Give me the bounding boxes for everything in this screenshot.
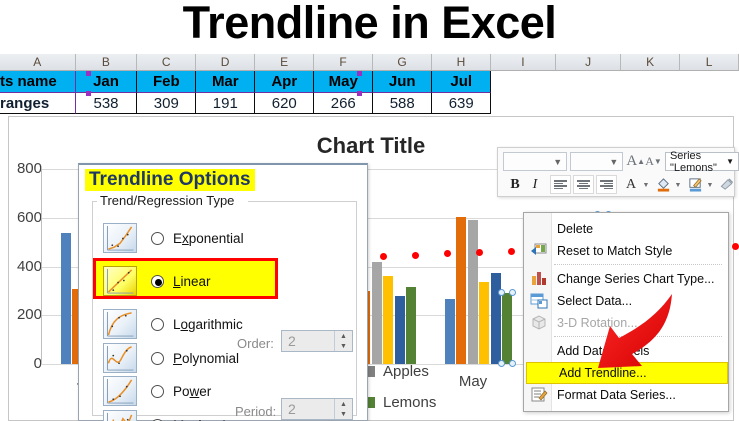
selection-handle-top-right[interactable] <box>357 71 362 76</box>
column-header-C[interactable]: C <box>137 54 196 71</box>
linear-curve-icon[interactable] <box>103 266 137 296</box>
value-cell[interactable]: 588 <box>373 93 432 114</box>
y-tick-label: 800 <box>17 160 42 177</box>
radio-linear[interactable] <box>151 275 164 288</box>
month-cell-jun[interactable]: Jun <box>373 71 432 93</box>
menu-item-add-trendline[interactable]: Add Trendline... <box>526 362 728 384</box>
format-icon <box>530 386 549 404</box>
reset-icon <box>530 242 549 260</box>
option-label: Power <box>173 384 211 399</box>
period-spin-up-icon[interactable]: ▲ <box>335 399 352 409</box>
empty-cell[interactable] <box>680 71 739 93</box>
bar-apples-apr[interactable] <box>372 262 382 364</box>
polynomial-curve-icon[interactable] <box>103 343 137 373</box>
italic-glyph: I <box>533 177 538 193</box>
chart-icon <box>530 270 549 288</box>
bar-series-2-may[interactable] <box>456 217 466 364</box>
trendline-dot <box>732 243 739 250</box>
order-spin-up-icon[interactable]: ▲ <box>335 331 352 341</box>
column-header-L[interactable]: L <box>680 54 739 71</box>
y-tick-label: 400 <box>17 258 42 275</box>
bar-series-1-may[interactable] <box>445 299 455 364</box>
month-cell-apr[interactable]: Apr <box>255 71 314 93</box>
column-header-I[interactable]: I <box>491 54 556 71</box>
menu-item-label: Select Data... <box>557 294 632 308</box>
column-header-G[interactable]: G <box>373 54 432 71</box>
font-color-chevron-icon[interactable]: ▼ <box>641 175 651 194</box>
trendline-dot <box>380 253 387 260</box>
trendline-dot <box>476 249 483 256</box>
value-cell[interactable]: 620 <box>255 93 314 114</box>
dialog-title: Trendline Options <box>85 169 255 191</box>
period-value[interactable]: 2 <box>282 399 334 419</box>
column-header-J[interactable]: J <box>556 54 621 71</box>
menu-separator <box>554 264 722 265</box>
empty-cell[interactable] <box>556 93 621 114</box>
menu-item-3-d-rotation: 3-D Rotation... <box>525 312 729 334</box>
menu-item-label: Reset to Match Style <box>557 244 672 258</box>
value-cell[interactable]: 639 <box>432 93 491 114</box>
period-stepper[interactable]: 2 ▲ ▼ <box>281 398 353 420</box>
value-cell[interactable]: 309 <box>137 93 196 114</box>
y-tick-label: 200 <box>17 306 42 323</box>
values-row: ranges538309191620266588639 <box>0 93 739 114</box>
moving-average-curve-icon[interactable] <box>103 410 137 421</box>
align-left-icon[interactable] <box>550 175 571 194</box>
cube-icon <box>530 314 549 332</box>
selection-handle-top-left[interactable] <box>86 71 91 76</box>
bar-series-4-apr[interactable] <box>383 276 393 364</box>
trendline-option-power[interactable]: Power <box>103 374 211 408</box>
font-color-glyph: A <box>626 177 636 193</box>
menu-item-label: Add Trendline... <box>559 366 647 380</box>
fill-bucket-icon[interactable] <box>653 175 673 194</box>
legend-label: Lemons <box>383 394 436 411</box>
bar-series-4-may[interactable] <box>479 282 489 364</box>
selection-handle-bottom-right[interactable] <box>357 91 362 96</box>
order-spin-buttons[interactable]: ▲ ▼ <box>334 331 352 351</box>
power-curve-icon[interactable] <box>103 376 137 406</box>
trendline-dot <box>508 248 515 255</box>
empty-cell[interactable] <box>621 71 680 93</box>
empty-cell[interactable] <box>491 71 556 93</box>
option-label: Linear <box>173 274 211 289</box>
bold-glyph: B <box>510 177 519 193</box>
grow-font-icon[interactable]: A▲ <box>626 152 645 171</box>
menu-item-add-data-labels[interactable]: Add Data Labels <box>525 340 729 362</box>
month-cell-may[interactable]: May <box>314 71 373 93</box>
align-right-icon[interactable] <box>596 175 617 194</box>
bold-button[interactable]: B <box>505 175 525 194</box>
column-header-row: ABCDEFGHIJKL <box>0 54 739 71</box>
empty-cell[interactable] <box>556 71 621 93</box>
screenshot-root: Trendline in Excel ABCDEFGHIJKL ts nameJ… <box>0 0 739 421</box>
menu-item-reset-to-match-style[interactable]: Reset to Match Style <box>525 240 729 262</box>
radio-logarithmic[interactable] <box>151 318 164 331</box>
period-spin-down-icon[interactable]: ▼ <box>335 409 352 419</box>
align-center-icon[interactable] <box>573 175 594 194</box>
month-cell-jan[interactable]: Jan <box>76 71 138 93</box>
bar-series-5-may[interactable] <box>491 273 501 364</box>
value-cell[interactable]: 191 <box>196 93 255 114</box>
menu-item-label: Add Data Labels <box>557 344 649 358</box>
month-cell-mar[interactable]: Mar <box>196 71 255 93</box>
order-stepper[interactable]: 2 ▲ ▼ <box>281 330 353 352</box>
grow-font-glyph: A <box>626 153 637 170</box>
month-cell-feb[interactable]: Feb <box>137 71 196 93</box>
chevron-down-icon-3: ▼ <box>726 157 734 166</box>
row-label-oranges[interactable]: ranges <box>0 93 76 114</box>
trendline-dot <box>412 252 419 259</box>
option-label: Exponential <box>173 231 244 246</box>
series-selector-value: Series "Lemons" <box>670 150 724 174</box>
column-header-D[interactable]: D <box>196 54 255 71</box>
group-label: Trend/Regression Type <box>97 193 237 208</box>
series-selection-handle[interactable] <box>509 289 516 296</box>
value-cell[interactable]: 538 <box>76 93 138 114</box>
column-header-A[interactable]: A <box>0 54 76 71</box>
column-header-B[interactable]: B <box>76 54 138 71</box>
bar-lemons-apr[interactable] <box>406 287 416 364</box>
series-selector[interactable]: Series "Lemons" ▼ <box>665 152 739 171</box>
chevron-down-icon-2: ▼ <box>609 157 618 167</box>
menu-item-label: Change Series Chart Type... <box>557 272 715 286</box>
order-spin-down-icon[interactable]: ▼ <box>335 341 352 351</box>
column-header-K[interactable]: K <box>621 54 680 71</box>
exponential-curve-icon[interactable] <box>103 223 137 253</box>
font-color-icon[interactable]: A <box>621 175 641 194</box>
trendline-option-polynomial[interactable]: Polynomial <box>103 341 239 375</box>
y-tick-label: 600 <box>17 209 42 226</box>
series-selection-handle[interactable] <box>509 360 516 367</box>
logarithmic-curve-icon[interactable] <box>103 309 137 339</box>
font-size-combo[interactable]: ▼ <box>570 152 623 171</box>
trendline-option-linear[interactable]: Linear <box>103 264 211 298</box>
chevron-down-icon: ▼ <box>553 157 562 167</box>
order-value[interactable]: 2 <box>282 331 334 351</box>
menu-item-label: Format Data Series... <box>557 388 676 402</box>
shrink-font-icon[interactable]: A▼ <box>645 152 662 171</box>
month-cell-jul[interactable]: Jul <box>432 71 491 93</box>
line-color-chevron-icon[interactable]: ▼ <box>705 175 715 194</box>
empty-cell[interactable] <box>621 93 680 114</box>
bar-series-1-jan[interactable] <box>61 233 71 364</box>
y-axis-labels: 8006004002000 <box>9 117 45 420</box>
value-cell[interactable]: 266 <box>314 93 373 114</box>
column-header-E[interactable]: E <box>255 54 314 71</box>
menu-item-change-series-chart-type[interactable]: Change Series Chart Type... <box>525 268 729 290</box>
legend-label: Apples <box>383 363 429 380</box>
table-icon <box>530 292 549 310</box>
italic-button[interactable]: I <box>525 175 545 194</box>
y-axis-line <box>41 169 42 364</box>
bar-series-5-apr[interactable] <box>395 296 405 364</box>
menu-item-format-data-series[interactable]: Format Data Series... <box>525 384 729 406</box>
menu-item-delete[interactable]: Delete <box>525 218 729 240</box>
font-name-combo[interactable]: ▼ <box>503 152 567 171</box>
empty-cell[interactable] <box>680 93 739 114</box>
shrink-font-glyph: A <box>645 154 654 169</box>
bar-apples-may[interactable] <box>468 220 478 364</box>
row-label-products[interactable]: ts name <box>0 71 76 93</box>
period-label: Period: <box>235 404 276 419</box>
fill-color-chevron-icon[interactable]: ▼ <box>673 175 683 194</box>
menu-item-label: 3-D Rotation... <box>557 316 638 330</box>
empty-cell[interactable] <box>491 93 556 114</box>
trendline-option-logarithmic[interactable]: Logarithmic <box>103 307 243 341</box>
menu-item-select-data[interactable]: Select Data... <box>525 290 729 312</box>
radio-polynomial[interactable] <box>151 352 164 365</box>
option-label: Polynomial <box>173 351 239 366</box>
spreadsheet: ABCDEFGHIJKL ts nameJanFebMarAprMayJunJu… <box>0 54 739 116</box>
order-label: Order: <box>237 336 274 351</box>
format-painter-icon[interactable] <box>717 175 737 194</box>
column-header-H[interactable]: H <box>432 54 491 71</box>
month-header-row: ts nameJanFebMarAprMayJunJul <box>0 71 739 93</box>
trendline-options-dialog[interactable]: Trendline Options Trend/Regression Type … <box>78 163 368 421</box>
pencil-icon[interactable] <box>685 175 705 194</box>
mini-toolbar[interactable]: ▼ ▼ A▲ A▼ Series "Lemons" ▼ B I <box>497 147 735 197</box>
selection-handle-bottom-left[interactable] <box>86 91 91 96</box>
context-menu[interactable]: DeleteReset to Match StyleChange Series … <box>523 212 729 412</box>
period-spin-buttons[interactable]: ▲ ▼ <box>334 399 352 419</box>
radio-exponential[interactable] <box>151 232 164 245</box>
radio-power[interactable] <box>151 385 164 398</box>
trendline-option-exponential[interactable]: Exponential <box>103 221 244 255</box>
x-tick-label-may: May <box>425 373 521 390</box>
column-header-F[interactable]: F <box>314 54 373 71</box>
trendline-dot <box>444 250 451 257</box>
bar-lemons-may[interactable] <box>502 293 512 364</box>
series-selection-handle[interactable] <box>498 360 505 367</box>
option-label: Logarithmic <box>173 317 243 332</box>
menu-item-label: Delete <box>557 222 593 236</box>
page-title: Trendline in Excel <box>0 0 739 49</box>
menu-separator <box>554 336 722 337</box>
